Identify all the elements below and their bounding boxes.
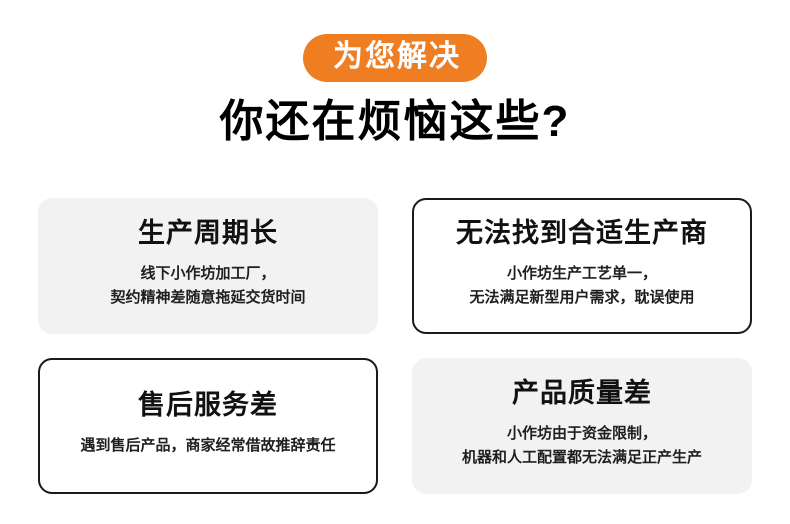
card-body: 小作坊生产工艺单一， 无法满足新型用户需求，耽误使用 <box>469 262 694 310</box>
card-title: 生产周期长 <box>138 218 278 249</box>
card-body: 小作坊由于资金限制， 机器和人工配置都无法满足正产生产 <box>462 422 702 470</box>
card-body-line: 机器和人工配置都无法满足正产生产 <box>462 446 702 470</box>
card-body-line: 线下小作坊加工厂， <box>110 262 305 286</box>
card-title: 售后服务差 <box>138 390 278 421</box>
pain-point-card-2: 无法找到合适生产商 小作坊生产工艺单一， 无法满足新型用户需求，耽误使用 <box>412 198 752 334</box>
promo-page: 为您解决 你还在烦恼这些? 生产周期长 线下小作坊加工厂， 契约精神差随意拖延交… <box>0 0 790 524</box>
page-title: 你还在烦恼这些? <box>0 96 790 149</box>
card-body-line: 遇到售后产品，商家经常借故推辞责任 <box>80 434 335 458</box>
card-body-line: 契约精神差随意拖延交货时间 <box>110 286 305 310</box>
card-body-line: 无法满足新型用户需求，耽误使用 <box>469 286 694 310</box>
card-body-line: 小作坊由于资金限制， <box>462 422 702 446</box>
pain-point-card-1: 生产周期长 线下小作坊加工厂， 契约精神差随意拖延交货时间 <box>38 198 378 334</box>
badge-container: 为您解决 <box>0 34 790 82</box>
section-badge: 为您解决 <box>303 34 487 82</box>
pain-point-card-grid: 生产周期长 线下小作坊加工厂， 契约精神差随意拖延交货时间 无法找到合适生产商 … <box>38 198 752 494</box>
card-body: 遇到售后产品，商家经常借故推辞责任 <box>80 434 335 458</box>
card-body-line: 小作坊生产工艺单一， <box>469 262 694 286</box>
pain-point-card-4: 产品质量差 小作坊由于资金限制， 机器和人工配置都无法满足正产生产 <box>412 358 752 494</box>
card-body: 线下小作坊加工厂， 契约精神差随意拖延交货时间 <box>110 262 305 310</box>
pain-point-card-3: 售后服务差 遇到售后产品，商家经常借故推辞责任 <box>38 358 378 494</box>
card-title: 无法找到合适生产商 <box>456 218 708 249</box>
card-title: 产品质量差 <box>512 378 652 409</box>
